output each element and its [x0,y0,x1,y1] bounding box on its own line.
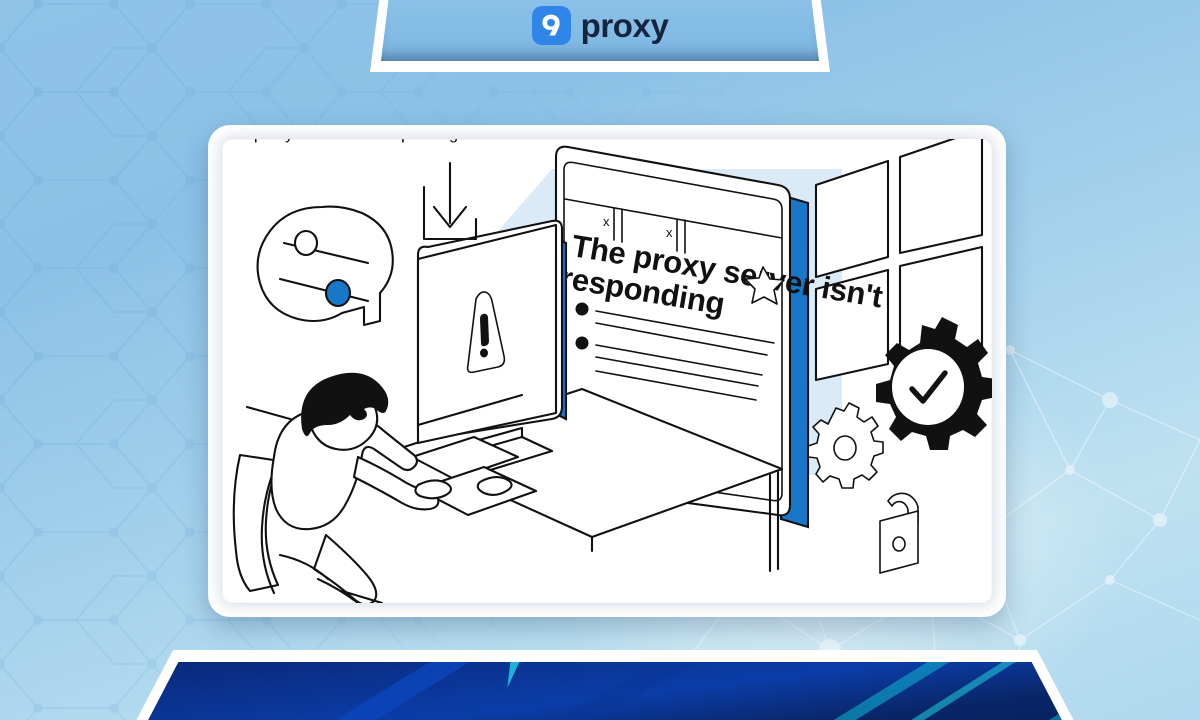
settings-bubble [258,207,393,325]
download-icon [424,163,476,239]
proxy-9-logo-icon [532,6,571,45]
proxy-error-illustration: .ln { fill:none; stroke:#111; stroke-wid… [222,139,992,603]
dialog-title: The proxy server isn't responding [222,139,458,143]
bottom-banner-fill [117,662,1093,720]
banner-streaks [117,662,1093,720]
bottom-banner [105,650,1105,720]
tab-close-icon-1[interactable]: x [603,214,610,229]
top-banner: proxy [370,0,830,72]
illustration-card: .ln { fill:none; stroke:#111; stroke-wid… [208,125,1006,617]
illustration-canvas: .ln { fill:none; stroke:#111; stroke-wid… [222,139,992,603]
padlock-icon [880,493,918,573]
tab-close-icon-2[interactable]: x [666,225,673,240]
brand-logo[interactable]: proxy [370,6,830,45]
brand-name: proxy [581,9,669,42]
